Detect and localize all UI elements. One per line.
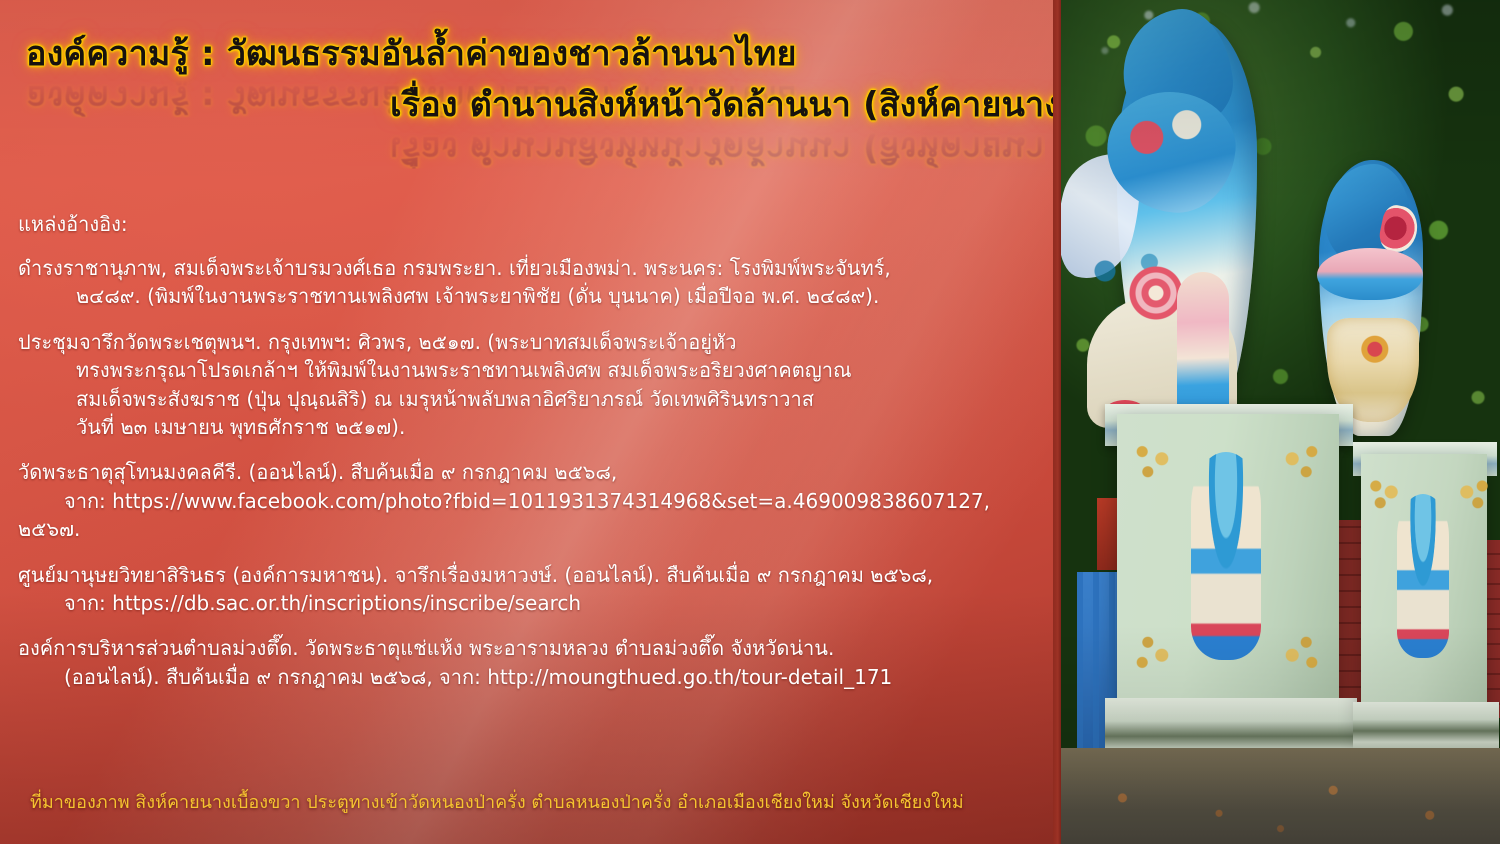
thewada-relief-second-pillar [1397,494,1449,658]
reference-link-sac[interactable]: จาก: https://db.sac.or.th/inscriptions/i… [18,589,1038,617]
reference-line: ทรงพระกรุณาโปรดเกล้าฯ ให้พิมพ์ในงานพระรา… [18,356,1038,384]
references-heading: แหล่งอ้างอิง: [18,214,1038,234]
reference-line: องค์การบริหารส่วนตำบลม่วงตึ๊ด. วัดพระธาต… [18,634,1038,662]
title-line-2: เรื่อง ตำนานสิงห์หน้าวัดล้านนา (สิงห์คาย… [0,85,1045,126]
reference-entry: ศูนย์มานุษยวิทยาสิรินธร (องค์การมหาชน). … [18,561,1038,618]
reference-line: วัดพระธาตุสุโทนมงคลคีรี. (ออนไลน์). สืบค… [18,458,1038,486]
gold-corner-ornament [1131,442,1187,490]
reference-entry: วัดพระธาตุสุโทนมงคลคีรี. (ออนไลน์). สืบค… [18,458,1038,543]
title-block: องค์ความรู้ : วัฒนธรรมอันล้ำค่าของชาวล้า… [0,34,1045,127]
references-block: แหล่งอ้างอิง: ดำรงราชานุภาพ, สมเด็จพระเจ… [18,214,1038,708]
slide-root: องค์ความรู้ : วัฒนธรรมอันล้ำค่าของชาวล้า… [0,0,1500,844]
gold-corner-ornament [1447,478,1491,518]
reference-line: สมเด็จพระสังฆราช (ปุ่น ปุณฺณสิริ) ณ เมรุ… [18,385,1038,413]
reference-line: ศูนย์มานุษยวิทยาสิรินธร (องค์การมหาชน). … [18,561,1038,589]
title-line-1: องค์ความรู้ : วัฒนธรรมอันล้ำค่าของชาวล้า… [0,34,1045,75]
reference-entry: องค์การบริหารส่วนตำบลม่วงตึ๊ด. วัดพระธาต… [18,634,1038,691]
reference-entry: ประชุมจารึกวัดพระเชตุพนฯ. กรุงเทพฯ: ศิวพ… [18,328,1038,442]
reference-line: ดำรงราชานุภาพ, สมเด็จพระเจ้าบรมวงศ์เธอ ก… [18,254,1038,282]
reference-line: ๒๕๖๗. [18,515,1038,543]
gold-corner-ornament [1267,624,1323,672]
photo-left-border [1053,0,1061,844]
fallen-leaves [1061,748,1500,844]
photo-source-caption: ที่มาของภาพ สิงห์คายนางเบื้องขวา ประตูทา… [30,791,1040,814]
nang-figure-emerging [1177,272,1229,420]
singha-statue-small-collar [1317,248,1423,300]
gate-pillar-second-base [1353,702,1499,752]
reference-line: วันที่ ๒๓ เมษายน พุทธศักราช ๒๕๑๗). [18,413,1038,441]
reference-link-moungthued[interactable]: (ออนไลน์). สืบค้นเมื่อ ๙ กรกฎาคม ๒๕๖๘, จ… [18,663,1038,691]
reference-link-facebook[interactable]: จาก: https://www.facebook.com/photo?fbid… [18,487,1038,515]
reference-line: ประชุมจารึกวัดพระเชตุพนฯ. กรุงเทพฯ: ศิวพ… [18,328,1038,356]
photo-frame [1053,0,1500,844]
gold-corner-ornament [1131,624,1187,672]
gold-corner-ornament [1267,442,1323,490]
temple-gate-photo [1061,0,1500,844]
thewada-relief-main-pillar [1191,452,1261,660]
reference-entry: ดำรงราชานุภาพ, สมเด็จพระเจ้าบรมวงศ์เธอ ก… [18,254,1038,311]
reference-line: ๒๔๘๙. (พิมพ์ในงานพระราชทานเพลิงศพ เจ้าพร… [18,282,1038,310]
